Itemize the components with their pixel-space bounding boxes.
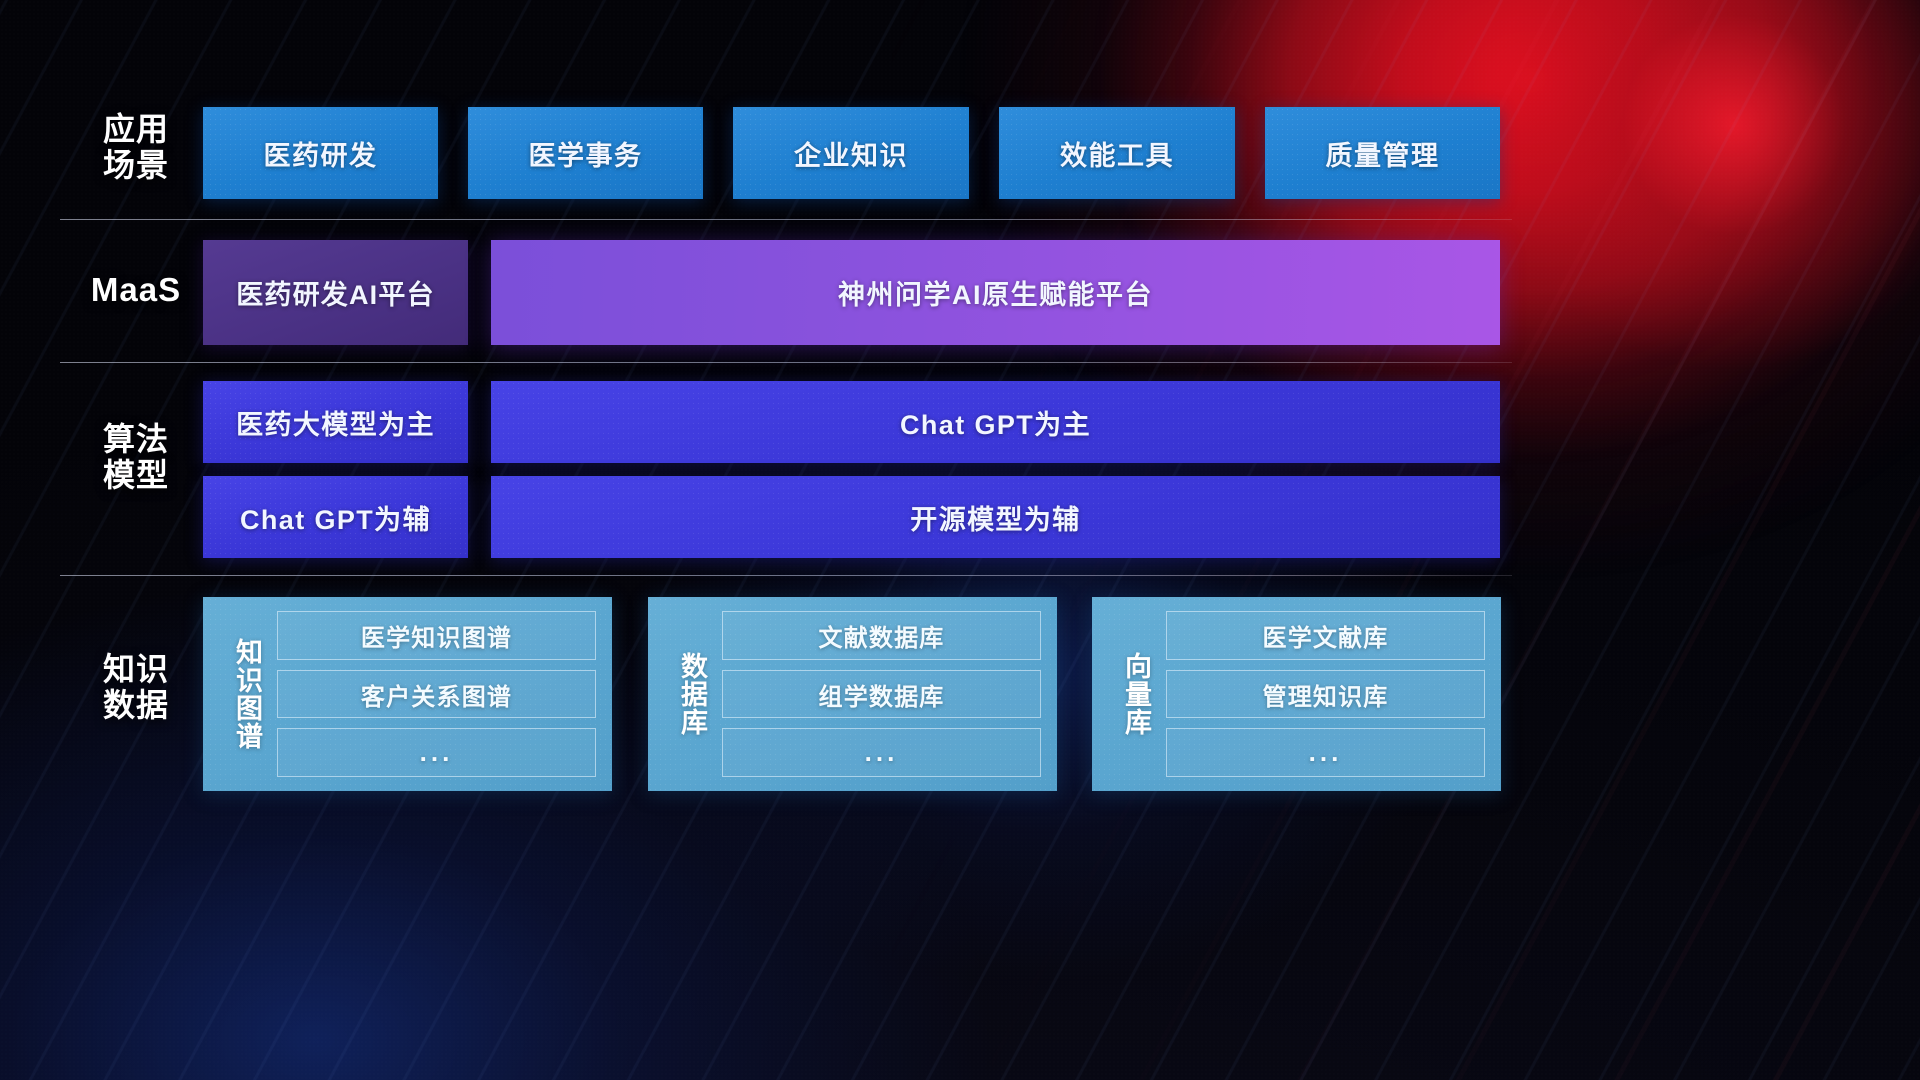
app-box-efficiency-tools[interactable]: 效能工具 xyxy=(999,107,1235,199)
app-box-quality-management[interactable]: 质量管理 xyxy=(1265,107,1500,199)
algo-box-chatgpt-secondary[interactable]: Chat GPT为辅 xyxy=(203,476,468,558)
row-label-knowledge: 知识 数据 xyxy=(72,652,200,724)
row-label-maas-line1: MaaS xyxy=(72,272,200,309)
row-label-knowledge-line1: 知识 xyxy=(72,652,200,688)
algo-box-chatgpt-primary[interactable]: Chat GPT为主 xyxy=(491,381,1500,463)
app-box-medical-affairs[interactable]: 医学事务 xyxy=(468,107,703,199)
knowledge-item-literature-db[interactable]: 文献数据库 xyxy=(722,611,1041,660)
knowledge-card-graph-label: 知识图谱 xyxy=(215,611,277,777)
architecture-diagram: 应用 场景 医药研发 医学事务 企业知识 效能工具 质量管理 MaaS 医药研发… xyxy=(0,0,1920,1080)
row-label-knowledge-line2: 数据 xyxy=(72,688,200,724)
app-box-pharma-rnd[interactable]: 医药研发 xyxy=(203,107,438,199)
knowledge-item-medical-graph[interactable]: 医学知识图谱 xyxy=(277,611,596,660)
algo-box-opensource-secondary[interactable]: 开源模型为辅 xyxy=(491,476,1500,558)
knowledge-card-database-label: 数据库 xyxy=(660,611,722,777)
knowledge-card-database-items: 文献数据库 组学数据库 ... xyxy=(722,611,1041,777)
app-box-enterprise-knowledge[interactable]: 企业知识 xyxy=(733,107,969,199)
maas-box-pharma-ai-platform[interactable]: 医药研发AI平台 xyxy=(203,240,468,345)
knowledge-card-database[interactable]: 数据库 文献数据库 组学数据库 ... xyxy=(648,597,1057,791)
knowledge-item-graph-more[interactable]: ... xyxy=(277,728,596,777)
row-label-algorithm-line2: 模型 xyxy=(72,458,200,494)
divider-maas-algorithm xyxy=(60,362,1512,363)
knowledge-item-management-knowledge[interactable]: 管理知识库 xyxy=(1166,670,1485,719)
algo-box-pharma-llm-primary[interactable]: 医药大模型为主 xyxy=(203,381,468,463)
row-label-algorithm: 算法 模型 xyxy=(72,422,200,494)
knowledge-item-vector-more[interactable]: ... xyxy=(1166,728,1485,777)
divider-application-maas xyxy=(60,219,1512,220)
knowledge-card-graph-items: 医学知识图谱 客户关系图谱 ... xyxy=(277,611,596,777)
row-label-application: 应用 场景 xyxy=(72,112,200,184)
row-label-algorithm-line1: 算法 xyxy=(72,422,200,458)
row-label-application-line1: 应用 xyxy=(72,112,200,148)
divider-algorithm-knowledge xyxy=(60,575,1512,576)
knowledge-card-graph[interactable]: 知识图谱 医学知识图谱 客户关系图谱 ... xyxy=(203,597,612,791)
knowledge-card-vector-label: 向量库 xyxy=(1104,611,1166,777)
knowledge-item-medical-literature[interactable]: 医学文献库 xyxy=(1166,611,1485,660)
knowledge-item-omics-db[interactable]: 组学数据库 xyxy=(722,670,1041,719)
row-label-application-line2: 场景 xyxy=(72,148,200,184)
knowledge-item-customer-graph[interactable]: 客户关系图谱 xyxy=(277,670,596,719)
knowledge-card-vector-items: 医学文献库 管理知识库 ... xyxy=(1166,611,1485,777)
knowledge-item-database-more[interactable]: ... xyxy=(722,728,1041,777)
knowledge-card-vector[interactable]: 向量库 医学文献库 管理知识库 ... xyxy=(1092,597,1501,791)
row-label-maas: MaaS xyxy=(72,272,200,309)
maas-box-shenzhou-wenxue-platform[interactable]: 神州问学AI原生赋能平台 xyxy=(491,240,1500,345)
